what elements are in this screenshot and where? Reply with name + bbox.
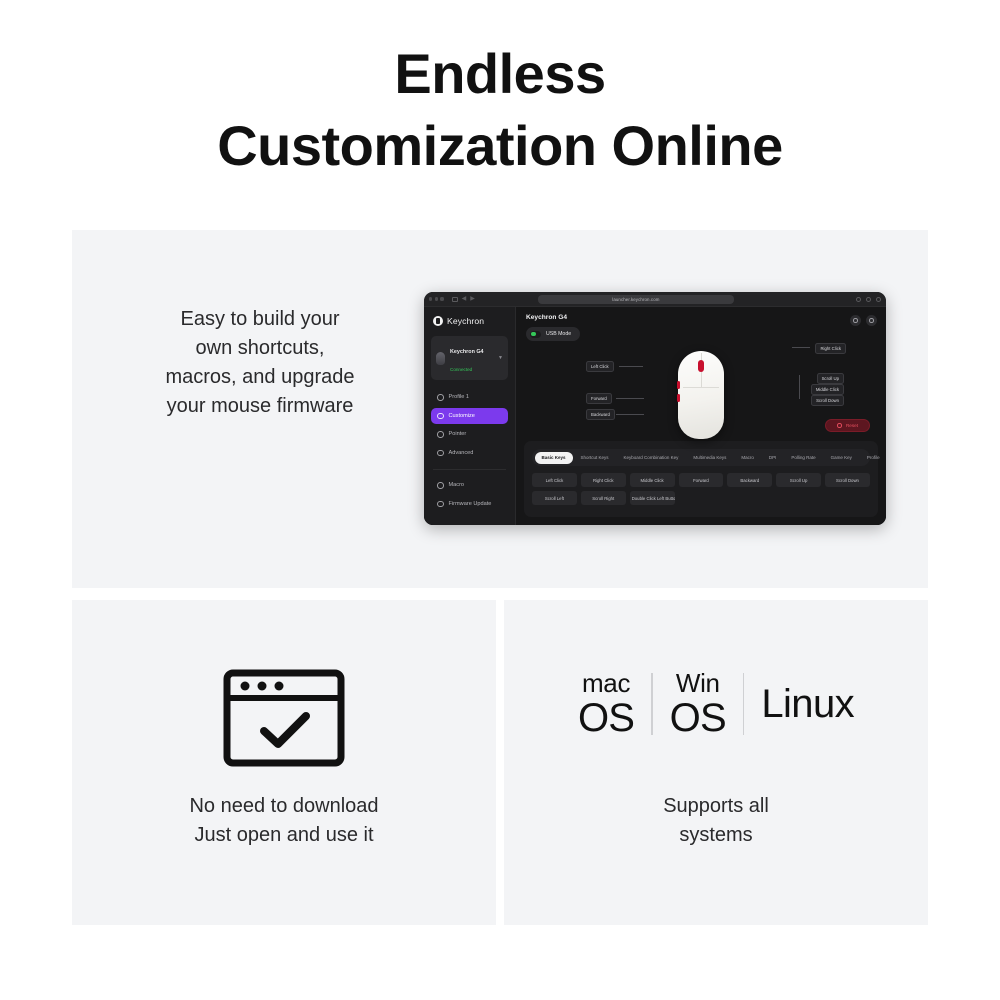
reset-label: Reset [846, 423, 858, 428]
reset-button[interactable]: Reset [825, 419, 870, 432]
chevron-down-icon[interactable]: ▼ [498, 355, 503, 361]
supported-systems-caption-line1: Supports all [504, 792, 928, 821]
tabs-overview-icon[interactable] [876, 297, 881, 302]
sidebar-item-label: Advanced [449, 450, 474, 456]
device-selector[interactable]: Keychron G4 Connected ▼ [431, 336, 508, 380]
macro-icon [437, 482, 444, 489]
no-download-caption: No need to download Just open and use it [72, 792, 496, 850]
key-chip[interactable]: Scroll Down [825, 473, 870, 487]
browser-check-icon [222, 668, 346, 773]
sidebar-item-label: Customize [449, 413, 475, 419]
leader-line [799, 375, 800, 399]
callout-left-click[interactable]: Left Click [586, 361, 614, 372]
promo-page: Endless Customization Online Easy to bui… [0, 0, 1000, 1000]
leader-line [616, 414, 644, 415]
app-window: ◀ ▶ launcher.keychron.com Keychron [424, 292, 886, 525]
sidebar-item-profile[interactable]: Profile 1 [431, 389, 508, 406]
os-winos: Win OS [670, 670, 726, 738]
minimize-icon[interactable] [435, 297, 438, 300]
mode-toggle-switch[interactable] [530, 331, 541, 338]
os-macos-bottom: OS [578, 698, 634, 738]
close-icon[interactable] [429, 297, 432, 300]
callout-middle-click[interactable]: Middle Click [811, 384, 844, 395]
key-chip[interactable]: Middle Click [630, 473, 675, 487]
no-download-card: No need to download Just open and use it [72, 600, 496, 925]
hero-description-line4: your mouse firmware [110, 392, 410, 421]
os-divider [651, 673, 653, 735]
share-icon[interactable] [856, 297, 861, 302]
user-icon [869, 318, 874, 323]
settings-button[interactable] [850, 315, 861, 326]
sidebar-item-label: Profile 1 [449, 394, 470, 400]
tab-polling-rate[interactable]: Polling Rate [784, 452, 822, 464]
page-title-line1: Endless [394, 42, 605, 105]
key-chip[interactable]: Double Click Left Button [630, 491, 675, 505]
sidebar-item-advanced[interactable]: Advanced [431, 445, 508, 462]
forward-side-button [677, 381, 680, 389]
no-download-caption-line1: No need to download [72, 792, 496, 821]
callout-backward[interactable]: Backward [586, 409, 615, 420]
usb-mode-toggle[interactable]: USB Mode [526, 327, 580, 341]
firmware-icon [437, 501, 444, 508]
address-bar-url: launcher.keychron.com [612, 297, 659, 302]
os-linux: Linux [761, 684, 854, 724]
profile-icon [437, 394, 444, 401]
key-chip[interactable]: Scroll Left [532, 491, 577, 505]
status-dot-icon [531, 332, 535, 336]
hero-description: Easy to build your own shortcuts, macros… [110, 305, 410, 421]
tab-game-key[interactable]: Game Key [824, 452, 859, 464]
mouse-seam [683, 387, 719, 388]
sidebar-item-label: Pointer [449, 431, 467, 437]
key-chip[interactable]: Left Click [532, 473, 577, 487]
page-title-line2: Customization Online [0, 110, 1000, 182]
callout-forward[interactable]: Forward [586, 393, 612, 404]
scroll-wheel-icon [698, 360, 704, 372]
key-chip[interactable]: Forward [679, 473, 724, 487]
reset-icon [837, 423, 842, 428]
callout-right-click[interactable]: Right Click [815, 343, 846, 354]
keychron-logo-icon [433, 316, 443, 326]
leader-line [619, 366, 643, 367]
browser-chrome: ◀ ▶ launcher.keychron.com [424, 292, 886, 307]
key-category-tabs: Basic Keys Shortcut Keys Keyboard Combin… [532, 449, 870, 466]
sidebar-nav-secondary: Macro Firmware Update [431, 477, 508, 512]
key-chip[interactable]: Backward [727, 473, 772, 487]
key-chip[interactable]: Right Click [581, 473, 626, 487]
window-traffic-lights[interactable] [429, 297, 444, 300]
mouse-icon [436, 352, 445, 365]
sidebar-nav-primary: Profile 1 Customize Pointer Advance [431, 389, 508, 461]
new-tab-icon[interactable] [866, 297, 871, 302]
supported-systems-caption: Supports all systems [504, 792, 928, 850]
device-name: Keychron G4 [450, 349, 484, 355]
tab-dpi[interactable]: DPI [762, 452, 784, 464]
hero-description-line1: Easy to build your [110, 305, 410, 334]
sidebar-item-macro[interactable]: Macro [431, 477, 508, 494]
no-download-caption-line2: Just open and use it [72, 821, 496, 850]
advanced-icon [437, 450, 444, 457]
os-linux-label: Linux [761, 684, 854, 724]
app-sidebar: Keychron Keychron G4 Connected ▼ [424, 307, 516, 525]
tab-keyboard-combination-key[interactable]: Keyboard Combination Key [617, 452, 686, 464]
key-chip[interactable]: Scroll Right [581, 491, 626, 505]
callout-scroll-up[interactable]: Scroll Up [817, 373, 844, 384]
brand: Keychron [431, 316, 508, 326]
hero-description-line3: macros, and upgrade [110, 363, 410, 392]
tab-multimedia-keys[interactable]: Multimedia Keys [686, 452, 733, 464]
maximize-icon[interactable] [440, 297, 443, 300]
leader-line [792, 347, 810, 348]
pointer-icon [437, 431, 444, 438]
app-main: Keychron G4 USB Mode [516, 307, 886, 525]
os-macos: mac OS [578, 670, 634, 738]
gear-icon [853, 318, 858, 323]
supported-systems-card: mac OS Win OS Linux Supports all systems [504, 600, 928, 925]
sidebar-item-label: Firmware Update [449, 501, 492, 507]
address-bar[interactable]: launcher.keychron.com [538, 295, 734, 304]
tab-macro[interactable]: Macro [734, 452, 761, 464]
mouse-diagram: Left Click Right Click Scroll Up Middle … [516, 341, 886, 441]
customize-icon [437, 413, 444, 420]
sidebar-item-firmware-update[interactable]: Firmware Update [431, 496, 508, 513]
os-winos-bottom: OS [670, 698, 726, 738]
key-chip-grid: Left Click Right Click Middle Click Forw… [532, 473, 870, 505]
brand-name: Keychron [447, 316, 484, 326]
os-divider [743, 673, 745, 735]
header-actions [850, 315, 877, 326]
sidebar-item-pointer[interactable]: Pointer [431, 426, 508, 443]
key-chip[interactable]: Scroll Up [776, 473, 821, 487]
callout-scroll-down[interactable]: Scroll Down [811, 395, 844, 406]
backward-side-button [677, 394, 680, 402]
device-title: Keychron G4 [526, 314, 876, 321]
sidebar-divider [433, 469, 506, 470]
os-winos-top: Win [676, 670, 720, 696]
sidebar-item-customize[interactable]: Customize [431, 408, 508, 425]
browser-toolbar-actions [856, 297, 881, 302]
usb-mode-label: USB Mode [546, 331, 571, 337]
device-meta: Keychron G4 Connected [450, 340, 493, 376]
os-logos: mac OS Win OS Linux [504, 670, 928, 738]
tab-profile[interactable]: Profile [860, 452, 886, 464]
sidebar-item-label: Macro [449, 482, 465, 488]
page-title: Endless Customization Online [0, 38, 1000, 182]
leader-line [616, 398, 644, 399]
main-header: Keychron G4 USB Mode [516, 307, 886, 341]
hero-description-line2: own shortcuts, [110, 334, 410, 363]
chevron-left-icon[interactable]: ◀ [462, 296, 467, 302]
mouse-illustration [678, 351, 724, 439]
chevron-right-icon[interactable]: ▶ [470, 296, 475, 302]
os-macos-top: mac [582, 670, 630, 696]
key-assignment-panel: Basic Keys Shortcut Keys Keyboard Combin… [524, 441, 878, 517]
app-body: Keychron Keychron G4 Connected ▼ [424, 307, 886, 525]
account-button[interactable] [866, 315, 877, 326]
tab-basic-keys[interactable]: Basic Keys [535, 452, 573, 464]
tab-shortcut-keys[interactable]: Shortcut Keys [574, 452, 616, 464]
sidebar-toggle-icon[interactable] [452, 297, 458, 302]
supported-systems-caption-line2: systems [504, 821, 928, 850]
hero-card: Easy to build your own shortcuts, macros… [72, 230, 928, 588]
device-status-badge: Connected [450, 367, 472, 372]
